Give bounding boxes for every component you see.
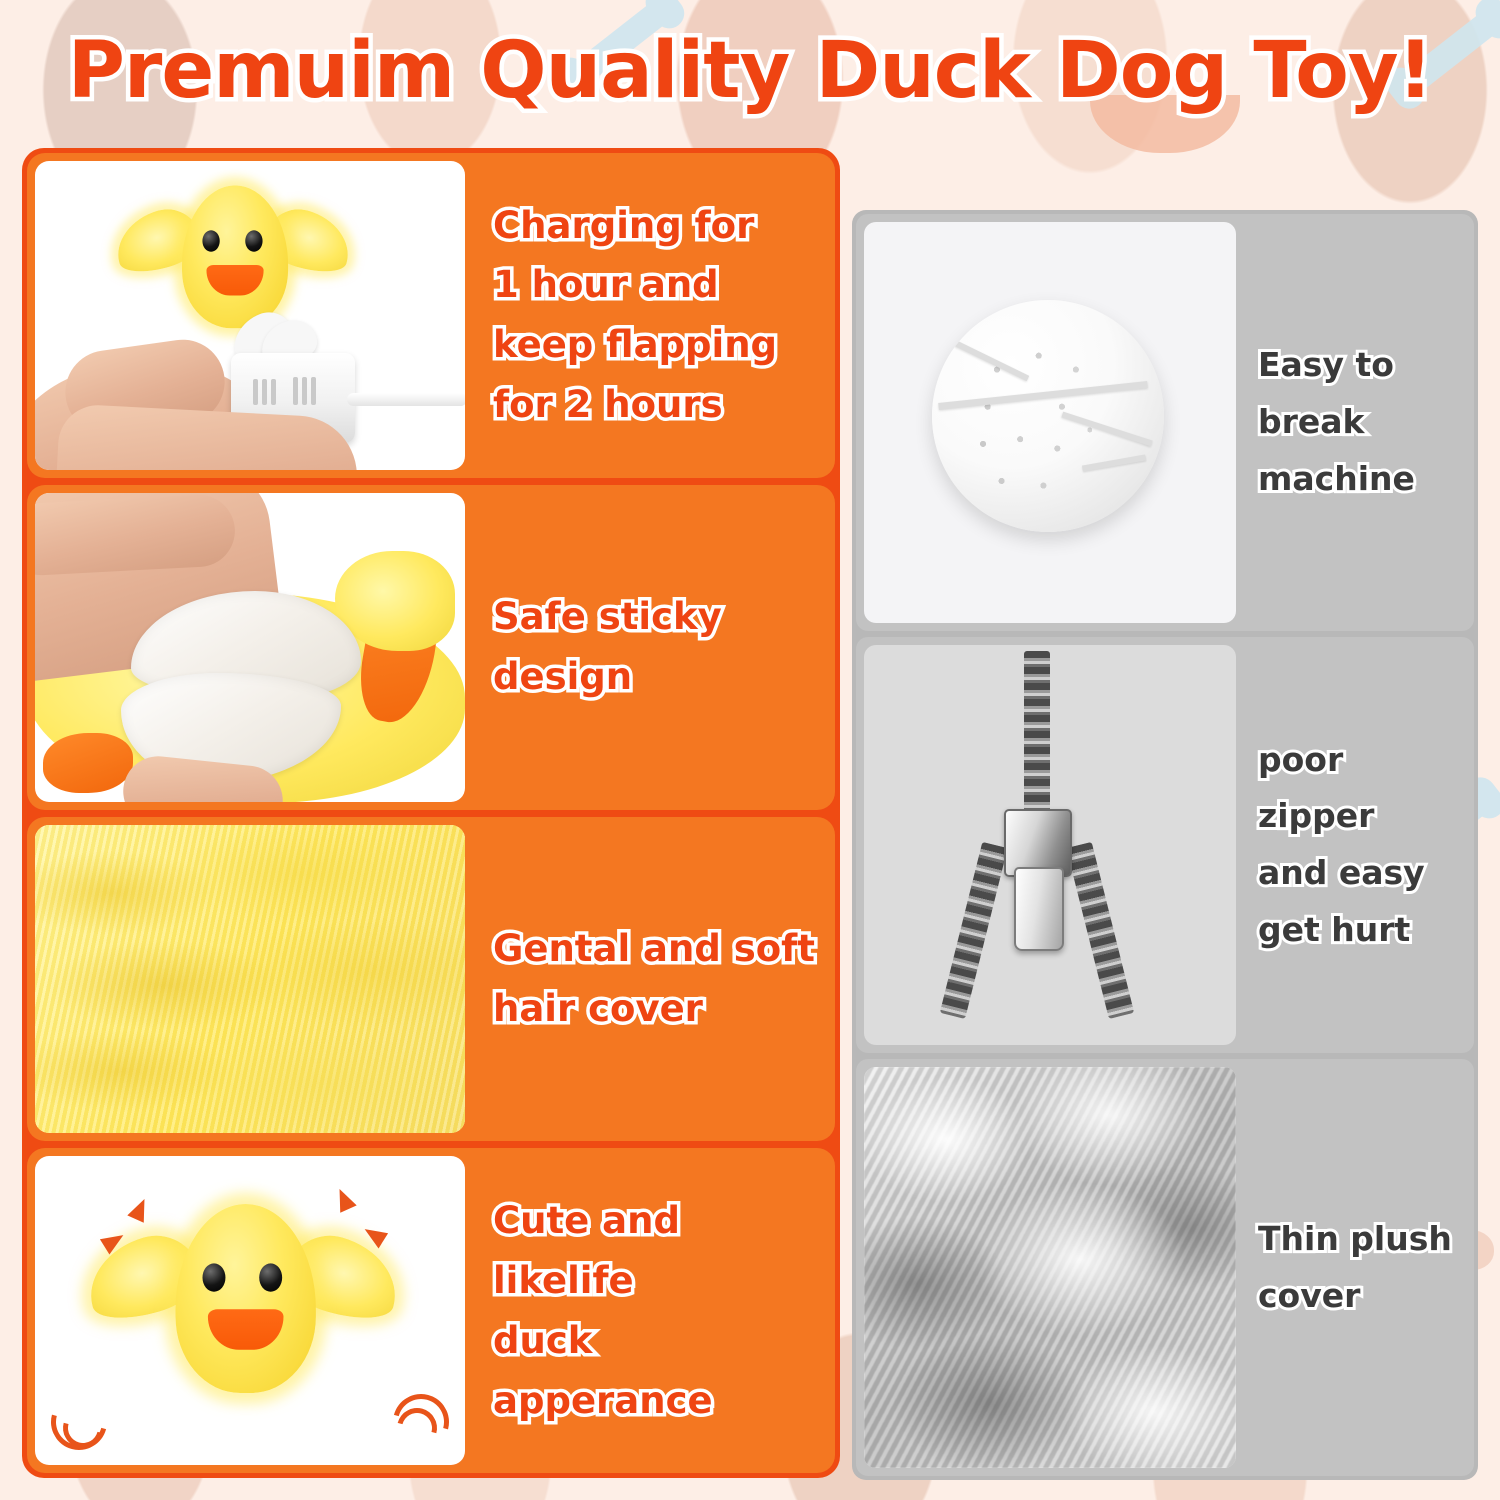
feature-line: Gental and soft — [493, 919, 819, 979]
flapping-duck-toy-photo — [35, 1156, 465, 1465]
yellow-fur-texture — [35, 825, 465, 1134]
duck-body — [176, 1204, 316, 1393]
feature-row: Gental and soft hair cover — [27, 817, 835, 1142]
charger-vent — [311, 377, 316, 405]
feature-text: Charging for 1 hour and keep flapping fo… — [465, 153, 835, 478]
duck-plush-illustration — [108, 1199, 378, 1426]
issue-text: Thin plush cover — [1236, 1059, 1474, 1476]
issue-line: get hurt — [1258, 902, 1466, 959]
issue-row: Easy to break machine — [856, 214, 1474, 631]
feature-line: Charging for — [493, 196, 819, 256]
issue-line: machine — [1258, 451, 1466, 508]
issues-column: Easy to break machine poor zipper and ea… — [852, 210, 1478, 1480]
zipper-illustration — [864, 645, 1236, 1046]
gray-fur-texture — [864, 1067, 1236, 1468]
issue-line: and easy — [1258, 845, 1466, 902]
issue-text: Easy to break machine — [1236, 214, 1474, 631]
charger-vent — [293, 377, 298, 405]
feature-line: Cute and likelife — [493, 1191, 819, 1311]
product-infographic: Premuim Quality Duck Dog Toy! — [0, 0, 1500, 1500]
issue-line: Easy to — [1258, 337, 1466, 394]
feature-row: Charging for 1 hour and keep flapping fo… — [27, 153, 835, 478]
charger-vent — [271, 379, 276, 405]
zipper-teeth-right — [1066, 842, 1134, 1019]
feature-row: Safe sticky design — [27, 485, 835, 810]
feature-text: Safe sticky design — [465, 485, 835, 810]
issue-line: Thin plush — [1258, 1211, 1466, 1268]
feature-line: for 2 hours — [493, 375, 819, 435]
yellow-plush-fur-closeup-photo — [35, 825, 465, 1134]
hand-finger — [35, 493, 237, 577]
feature-line: Safe sticky — [493, 587, 819, 647]
issue-row: Thin plush cover — [856, 1059, 1474, 1476]
feature-line: keep flapping — [493, 315, 819, 375]
feature-line: duck apperance — [493, 1311, 819, 1431]
metal-zipper-photo — [864, 645, 1236, 1046]
feature-text: Cute and likelife duck apperance — [465, 1148, 835, 1473]
zipper-teeth-left — [940, 842, 1008, 1019]
duck-eye-left — [202, 230, 219, 251]
issue-text: poor zipper and easy get hurt — [1236, 637, 1474, 1054]
duck-toy-and-usb-charger-photo — [35, 161, 465, 470]
cracked-white-perforated-ball-photo — [864, 222, 1236, 623]
issue-line: poor zipper — [1258, 732, 1466, 846]
feature-line: 1 hour and — [493, 255, 819, 315]
zipper-teeth-top — [1024, 651, 1050, 831]
charger-vent — [302, 377, 307, 405]
usb-cable — [347, 393, 465, 406]
feature-row: Cute and likelife duck apperance — [27, 1148, 835, 1473]
issue-row: poor zipper and easy get hurt — [856, 637, 1474, 1054]
thin-gray-plush-texture-photo — [864, 1067, 1236, 1468]
ball-holes — [932, 300, 1164, 532]
zipper-pull-tab — [1014, 867, 1064, 951]
feature-text: Gental and soft hair cover — [465, 817, 835, 1142]
duck-eye-right — [245, 230, 262, 251]
features-column: Charging for 1 hour and keep flapping fo… — [22, 148, 840, 1478]
duck-body — [182, 185, 288, 328]
issue-line: break — [1258, 394, 1466, 451]
issue-line: cover — [1258, 1268, 1466, 1325]
charger-vent — [262, 379, 267, 405]
page-title: Premuim Quality Duck Dog Toy! — [0, 26, 1500, 116]
feature-line: hair cover — [493, 979, 819, 1039]
charger-vent — [253, 379, 258, 405]
hand-holding-duck-sticky-fabric-photo — [35, 493, 465, 802]
plush-foot — [43, 733, 133, 793]
white-perforated-ball — [932, 300, 1164, 532]
feature-line: design — [493, 647, 819, 707]
